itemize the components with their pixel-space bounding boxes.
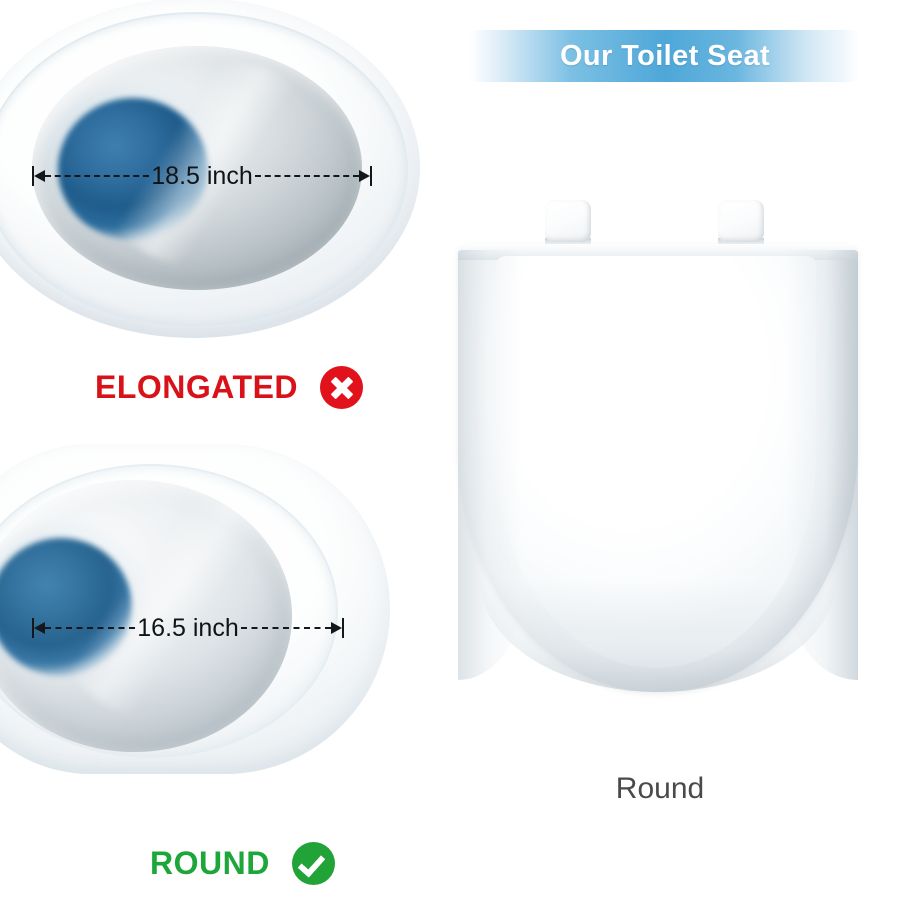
dimension-dashed-line-left xyxy=(45,627,135,630)
dimension-dashed-line-left xyxy=(45,175,149,178)
round-verdict-label: ROUND xyxy=(150,845,270,882)
round-dimension-label: 16.5 inch xyxy=(135,614,240,643)
round-dimension-annotation: 16.5 inch xyxy=(32,615,344,641)
dimension-arrow-left-icon xyxy=(34,622,45,634)
dimension-arrow-right-icon xyxy=(331,622,342,634)
round-bowl-sheen xyxy=(50,492,290,722)
elongated-dimension-annotation: 18.5 inch xyxy=(32,163,372,189)
hinge-cap-right xyxy=(718,200,764,242)
product-caption: Round xyxy=(440,772,880,806)
elongated-verdict-label: ELONGATED xyxy=(95,369,298,406)
x-mark-icon xyxy=(320,366,363,409)
elongated-verdict-row: ELONGATED xyxy=(95,366,363,409)
banner-title: Our Toilet Seat xyxy=(470,30,860,82)
dimension-end-cap-right xyxy=(370,166,372,186)
elongated-dimension-label: 18.5 inch xyxy=(149,162,254,191)
banner: Our Toilet Seat xyxy=(470,30,860,82)
hinge-cap-left xyxy=(545,200,591,242)
dimension-arrow-right-icon xyxy=(359,170,370,182)
dimension-dashed-line-right xyxy=(241,627,331,630)
round-verdict-row: ROUND xyxy=(150,842,335,885)
dimension-end-cap-right xyxy=(342,618,344,638)
toilet-seat-product-image xyxy=(440,190,880,710)
infographic-canvas: Our Toilet Seat 18.5 inch ELONGATED xyxy=(0,0,900,900)
dimension-dashed-line-right xyxy=(255,175,359,178)
seat-bottom-rim-shading xyxy=(480,580,836,692)
check-mark-icon xyxy=(292,842,335,885)
dimension-arrow-left-icon xyxy=(34,170,45,182)
